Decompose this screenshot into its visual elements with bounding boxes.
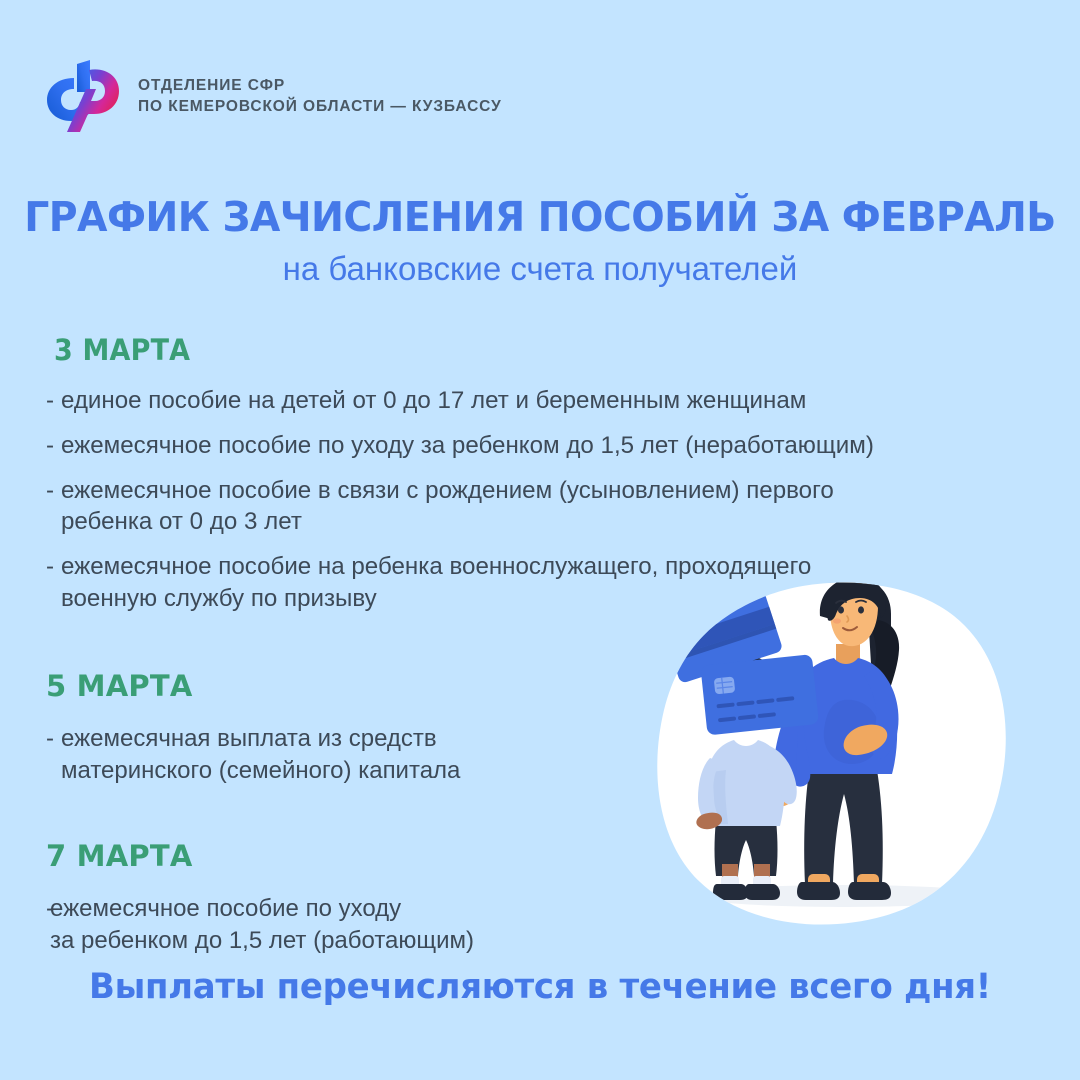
woman-eye-left xyxy=(838,606,844,613)
boy-shoe-right xyxy=(745,884,780,900)
org-line-1: ОТДЕЛЕНИЕ СФР xyxy=(138,77,502,94)
woman-cheek xyxy=(833,618,841,623)
date-heading-march-5: 5 МАРТА xyxy=(46,672,646,701)
schedule-section-march-7: 7 МАРТА - ежемесячное пособие по уходу з… xyxy=(46,842,646,957)
list-item-text: ежемесячное пособие в связи с рождением … xyxy=(61,475,834,537)
list-item: - ежемесячная выплата из средств материн… xyxy=(46,723,646,787)
list-item: - ежемесячное пособие по уходу за ребенк… xyxy=(46,893,646,957)
sfr-monogram-logo-icon xyxy=(44,58,122,134)
woman-eye-right xyxy=(858,606,864,613)
bank-card-front xyxy=(700,654,819,735)
bullet-dash: - xyxy=(46,475,61,506)
page-subtitle: на банковские счета получателей xyxy=(0,251,1080,287)
benefit-list-march-7: - ежемесячное пособие по уходу за ребенк… xyxy=(46,893,646,957)
bullet-dash: - xyxy=(46,430,61,461)
list-item-text: ежемесячная выплата из средств материнск… xyxy=(61,723,460,787)
footer-message: Выплаты перечисляются в течение всего дн… xyxy=(16,967,1064,1007)
list-item-text: ежемесячное пособие по уходу за ребенком… xyxy=(50,893,474,957)
bullet-dash: - xyxy=(46,385,61,416)
woman-shoe-right xyxy=(848,882,891,900)
org-line-2: ПО КЕМЕРОВСКОЙ ОБЛАСТИ — КУЗБАССУ xyxy=(138,98,502,115)
page-title: ГРАФИК ЗАЧИСЛЕНИЯ ПОСОБИЙ ЗА ФЕВРАЛЬ xyxy=(22,196,1059,239)
list-item-text: единое пособие на детей от 0 до 17 лет и… xyxy=(61,385,806,416)
date-heading-march-7: 7 МАРТА xyxy=(46,842,646,871)
boy-shoe-left xyxy=(713,884,748,900)
benefit-list-march-5: - ежемесячная выплата из средств материн… xyxy=(46,723,646,787)
footer-banner: Выплаты перечисляются в течение всего дн… xyxy=(0,967,1080,1007)
date-heading-march-3: 3 МАРТА xyxy=(54,336,967,365)
list-item: - ежемесячное пособие в связи с рождение… xyxy=(46,475,1021,537)
org-name: ОТДЕЛЕНИЕ СФР ПО КЕМЕРОВСКОЙ ОБЛАСТИ — К… xyxy=(138,77,502,115)
woman-shoe-left xyxy=(797,882,840,900)
list-item: - единое пособие на детей от 0 до 17 лет… xyxy=(46,385,1021,416)
header-branding: ОТДЕЛЕНИЕ СФР ПО КЕМЕРОВСКОЙ ОБЛАСТИ — К… xyxy=(44,58,502,134)
family-illustration xyxy=(648,568,1020,943)
bullet-dash: - xyxy=(46,723,61,755)
bullet-dash: - xyxy=(46,551,61,582)
title-block: ГРАФИК ЗАЧИСЛЕНИЯ ПОСОБИЙ ЗА ФЕВРАЛЬ на … xyxy=(0,196,1080,287)
list-item: - ежемесячное пособие по уходу за ребенк… xyxy=(46,430,1021,461)
schedule-section-march-5: 5 МАРТА - ежемесячная выплата из средств… xyxy=(46,672,646,787)
list-item-text: ежемесячное пособие по уходу за ребенком… xyxy=(61,430,874,461)
